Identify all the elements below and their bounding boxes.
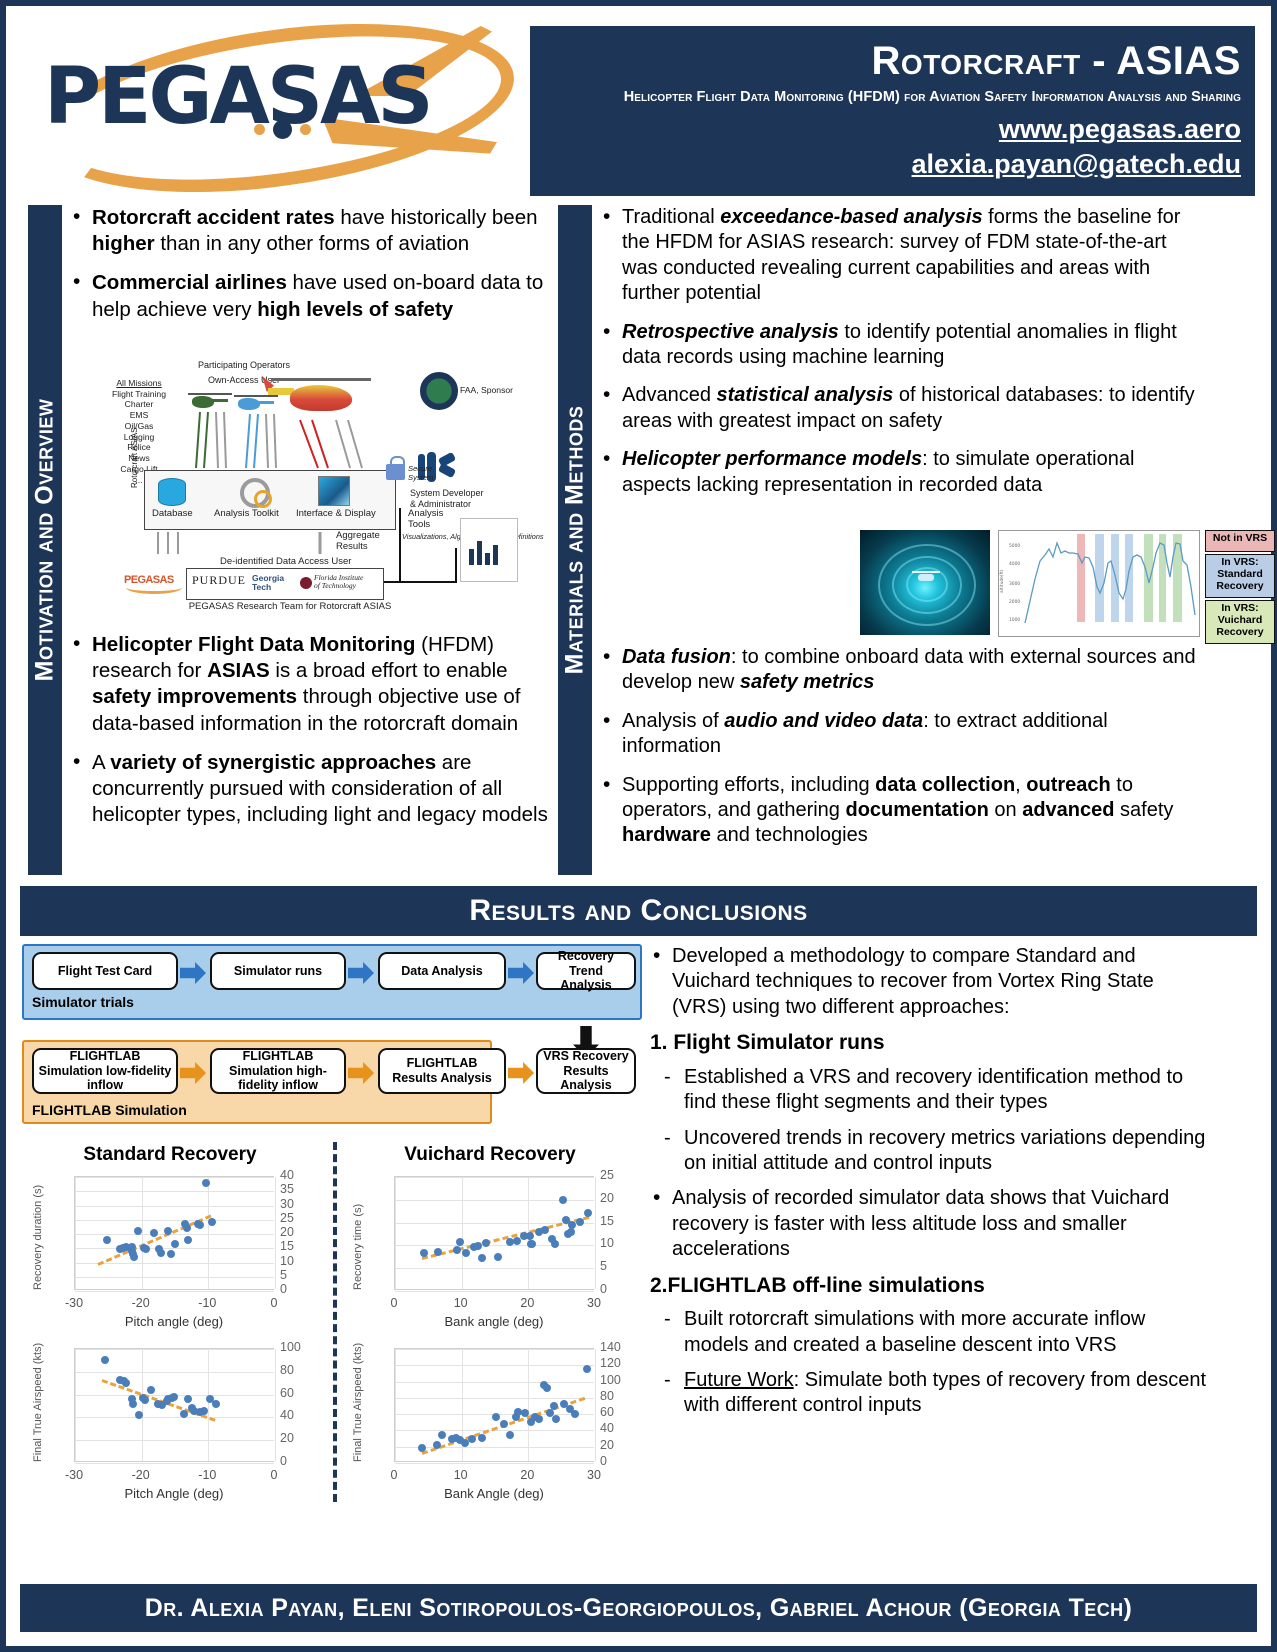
gridline-h [395, 1382, 594, 1383]
y-axis-label: Recovery duration (s) [32, 1185, 44, 1290]
data-point [551, 1240, 559, 1248]
list-item: Data fusion: to combine onboard data wit… [600, 645, 1200, 696]
gridline-v [75, 1349, 76, 1461]
x-axis-tick: -30 [54, 1296, 94, 1310]
gridline-v [208, 1177, 209, 1289]
list-item: Rotorcraft accident rates have historica… [70, 205, 548, 257]
flow-box-simulator-runs: Simulator runs [210, 952, 346, 990]
gridline-h [75, 1291, 274, 1292]
diagram-secure-label: SecureSystem [408, 464, 433, 482]
diagram-database-label: Database [152, 508, 193, 519]
flow-box-flightlab-low: FLIGHTLAB Simulation low-fidelity inflow [32, 1048, 178, 1094]
diagram-participating-operators: Participating Operators [198, 360, 290, 370]
gear-small-icon [254, 490, 272, 508]
x-axis-label: Pitch angle (deg) [74, 1314, 274, 1329]
data-point [506, 1431, 514, 1439]
y-axis-tick: 30 [280, 1197, 294, 1211]
x-axis-tick: -20 [121, 1296, 161, 1310]
data-point [568, 1221, 576, 1229]
legend-item-vuichard-recovery: In VRS:VuichardRecovery [1205, 600, 1275, 644]
results-text-column: Developed a methodology to compare Stand… [650, 944, 1210, 1429]
data-point [167, 1250, 175, 1258]
flightlab-simulation-label: FLIGHTLAB Simulation [32, 1102, 187, 1118]
chart-standard-recovery-duration: 0510152025303540-30-20-100Recovery durat… [20, 1170, 320, 1330]
data-point [130, 1253, 138, 1261]
data-point [494, 1253, 502, 1261]
data-point [171, 1240, 179, 1248]
x-axis-label: Bank angle (deg) [394, 1314, 594, 1329]
data-point [150, 1229, 158, 1237]
gridline-h [395, 1291, 594, 1292]
x-axis-tick: -30 [54, 1468, 94, 1482]
chart-title-vuichard: Vuichard Recovery [340, 1144, 640, 1166]
y-axis-tick: 100 [600, 1373, 621, 1387]
list-item: Supporting efforts, including data colle… [600, 773, 1200, 849]
data-point [559, 1196, 567, 1204]
y-axis-tick: 40 [280, 1168, 294, 1182]
y-axis-tick: 40 [280, 1408, 294, 1422]
results-item-2-1: Built rotorcraft simulations with more a… [650, 1307, 1210, 1358]
gridline-h [395, 1177, 594, 1178]
svg-text:1000: 1000 [1009, 617, 1020, 623]
data-point [528, 1240, 536, 1248]
svg-text:altitude(ft): altitude(ft) [999, 569, 1005, 593]
data-point [164, 1227, 172, 1235]
diagram-missions-title: All Missions [116, 378, 161, 388]
y-axis-tick: 20 [280, 1225, 294, 1239]
data-point [482, 1239, 490, 1247]
y-axis-tick: 80 [280, 1363, 294, 1377]
plot-area [394, 1176, 594, 1290]
flow-box-flight-test-card: Flight Test Card [32, 952, 178, 990]
results-bullet-simulator: Analysis of recorded simulator data show… [650, 1186, 1210, 1262]
gridline-h [75, 1206, 274, 1207]
gridline-h [75, 1220, 274, 1221]
svg-text:5000: 5000 [1009, 543, 1020, 549]
y-axis-tick: 140 [600, 1340, 621, 1354]
data-point [212, 1400, 220, 1408]
x-axis-tick: 0 [254, 1468, 294, 1482]
x-axis-tick: 0 [374, 1296, 414, 1310]
email-link[interactable]: alexia.payan@gatech.edu [540, 149, 1241, 180]
gridline-v [142, 1177, 143, 1289]
svg-text:2000: 2000 [1009, 599, 1020, 605]
x-axis-tick: 20 [507, 1468, 547, 1482]
flow-arrow-6-icon [508, 1062, 534, 1084]
gridline-v [528, 1349, 529, 1461]
poster-root: PEGASAS Rotorcraft - ASIAS Helicopter Fl… [0, 0, 1277, 1652]
x-axis-label: Pitch Angle (deg) [74, 1486, 274, 1501]
section-band-materials: Materials and Methods [558, 205, 592, 875]
fit-logo: Florida Instituteof Technology [314, 574, 363, 591]
y-axis-tick: 5 [600, 1259, 607, 1273]
poster-header: PEGASAS Rotorcraft - ASIAS Helicopter Fl… [12, 12, 1265, 194]
data-point [462, 1249, 470, 1257]
list-item: Helicopter performance models: to simula… [600, 447, 1200, 498]
results-future-work: Future Work: Simulate both types of reco… [650, 1368, 1210, 1419]
data-point [584, 1209, 592, 1217]
fit-seal-icon [300, 577, 312, 589]
y-axis-tick: 5 [280, 1268, 287, 1282]
gridline-h [395, 1398, 594, 1399]
pegasas-logo: PEGASAS [22, 14, 512, 194]
data-point [141, 1396, 149, 1404]
data-point [142, 1245, 150, 1253]
flow-box-data-analysis: Data Analysis [378, 952, 506, 990]
results-charts: Standard Recovery Vuichard Recovery 0510… [20, 1144, 640, 1504]
lock-icon [386, 464, 405, 480]
data-point [478, 1254, 486, 1262]
gridline-v [395, 1349, 396, 1461]
y-axis-label: Final True Airspeed (kts) [32, 1343, 44, 1462]
gridline-v [595, 1177, 596, 1289]
faa-seal-icon [420, 372, 458, 410]
svg-text:3000: 3000 [1009, 581, 1020, 587]
legend-item-standard-recovery: In VRS:StandardRecovery [1205, 554, 1275, 598]
data-point [170, 1393, 178, 1401]
y-axis-tick: 25 [600, 1168, 614, 1182]
data-point [492, 1413, 500, 1421]
y-axis-tick: 10 [280, 1254, 294, 1268]
y-axis-tick: 20 [600, 1438, 614, 1452]
y-axis-tick: 20 [600, 1191, 614, 1205]
y-axis-tick: 25 [280, 1211, 294, 1225]
gridline-h [395, 1245, 594, 1246]
page-subtitle: Helicopter Flight Data Monitoring (HFDM)… [540, 89, 1241, 105]
list-item: Helicopter Flight Data Monitoring (HFDM)… [70, 632, 548, 737]
list-item: Advanced statistical analysis of histori… [600, 383, 1200, 434]
diagram-aggregate-label: AggregateResults [336, 530, 380, 553]
results-section-1: 1. Flight Simulator runs [650, 1030, 1210, 1057]
data-point [583, 1365, 591, 1373]
gridline-v [75, 1177, 76, 1289]
x-axis-tick: 0 [254, 1296, 294, 1310]
list-item: Retrospective analysis to identify poten… [600, 320, 1200, 371]
chart-vuichard-recovery-time: 05101520250102030Recovery time (s)Bank a… [340, 1170, 640, 1330]
gridline-h [75, 1463, 274, 1464]
data-point [184, 1395, 192, 1403]
plot-area [74, 1348, 274, 1462]
gridline-h [75, 1277, 274, 1278]
diagram-analysis-tools-label: AnalysisTools [408, 508, 443, 531]
data-point [103, 1236, 111, 1244]
section-band-motivation-label: Motivation and Overview [31, 399, 60, 682]
gridline-h [395, 1430, 594, 1431]
data-point [576, 1218, 584, 1226]
vrs-figure-row: 50004000 30002000 1000 altitude(ft) Not … [860, 530, 1198, 638]
x-axis-tick: -20 [121, 1468, 161, 1482]
results-intro: Developed a methodology to compare Stand… [650, 944, 1210, 1020]
display-icon [318, 476, 350, 506]
flow-box-flightlab-results: FLIGHTLAB Results Analysis [378, 1048, 506, 1094]
diagram-interface-label: Interface & Display [296, 508, 376, 519]
gridline-h [75, 1234, 274, 1235]
data-point [541, 1226, 549, 1234]
diagram-deidentified-label: De-identified Data Access User [220, 556, 351, 567]
y-axis-tick: 100 [280, 1340, 301, 1354]
pegasas-mini-logo: PEGASAS [124, 574, 182, 592]
simulator-trials-label: Simulator trials [32, 994, 134, 1010]
data-point [535, 1415, 543, 1423]
georgia-tech-logo: GeorgiaTech [252, 574, 284, 592]
y-axis-tick: 80 [600, 1389, 614, 1403]
gridline-h [75, 1440, 274, 1441]
page-title: Rotorcraft - ASIAS [540, 40, 1241, 82]
results-item-1-2: Uncovered trends in recovery metrics var… [650, 1126, 1210, 1177]
y-axis-tick: 35 [280, 1182, 294, 1196]
x-axis-label: Bank Angle (deg) [394, 1486, 594, 1501]
data-point [500, 1420, 508, 1428]
data-point [101, 1356, 109, 1364]
y-axis-tick: 0 [280, 1282, 287, 1296]
gridline-h [75, 1349, 274, 1350]
data-point [438, 1431, 446, 1439]
materials-column: Traditional exceedance-based analysis fo… [600, 205, 1200, 877]
y-axis-tick: 0 [600, 1282, 607, 1296]
legend-item-not-in-vrs: Not in VRS [1205, 530, 1275, 552]
data-point [418, 1444, 426, 1452]
y-axis-label: Final True Airspeed (kts) [352, 1343, 364, 1462]
logo-wordmark: PEGASAS [44, 52, 431, 142]
data-point [521, 1409, 529, 1417]
helicopter-main-icon [268, 374, 373, 418]
data-point [202, 1179, 210, 1187]
data-point [543, 1384, 551, 1392]
gridline-h [395, 1349, 594, 1350]
y-axis-tick: 60 [600, 1405, 614, 1419]
gridline-h [75, 1248, 274, 1249]
gridline-h [75, 1191, 274, 1192]
gridline-h [395, 1463, 594, 1464]
data-point [157, 1249, 165, 1257]
title-block: Rotorcraft - ASIAS Helicopter Flight Dat… [530, 26, 1255, 196]
data-point [122, 1379, 130, 1387]
gridline-v [275, 1349, 276, 1461]
y-axis-label: Recovery time (s) [352, 1204, 364, 1290]
helicopter-green-icon [188, 388, 234, 410]
svg-text:4000: 4000 [1009, 561, 1020, 567]
materials-bullet-list-2: Data fusion: to combine onboard data wit… [600, 645, 1200, 862]
data-point [550, 1402, 558, 1410]
y-axis-tick: 20 [280, 1431, 294, 1445]
gridline-h [75, 1372, 274, 1373]
y-axis-tick: 15 [600, 1214, 614, 1228]
x-axis-tick: 20 [507, 1296, 547, 1310]
chart-vuichard-final-airspeed: 0204060801001201400102030Final True Airs… [340, 1342, 640, 1502]
vrs-altitude-chart: 50004000 30002000 1000 altitude(ft) [998, 530, 1200, 637]
motivation-bullet-list: Rotorcraft accident rates have historica… [70, 205, 548, 323]
asias-concept-diagram: All Missions Flight TrainingCharterEMSOi… [100, 360, 530, 625]
data-point [200, 1407, 208, 1415]
data-point [571, 1410, 579, 1418]
x-axis-tick: -10 [187, 1468, 227, 1482]
gridline-h [395, 1268, 594, 1269]
website-link[interactable]: www.pegasas.aero [540, 114, 1241, 145]
y-axis-tick: 0 [600, 1454, 607, 1468]
section-band-motivation: Motivation and Overview [28, 205, 62, 875]
data-point [453, 1246, 461, 1254]
x-axis-tick: -10 [187, 1296, 227, 1310]
gridline-v [142, 1349, 143, 1461]
data-point [184, 1236, 192, 1244]
section-band-materials-label: Materials and Methods [561, 406, 590, 675]
vortex-ring-state-photo [860, 530, 990, 635]
x-axis-tick: 10 [441, 1468, 481, 1482]
data-point [129, 1400, 137, 1408]
x-axis-tick: 10 [441, 1296, 481, 1310]
gridline-v [395, 1177, 396, 1289]
data-point [552, 1415, 560, 1423]
diagram-faa-label: FAA, Sponsor [460, 385, 513, 395]
y-axis-tick: 40 [600, 1421, 614, 1435]
y-axis-tick: 60 [280, 1386, 294, 1400]
diagram-caption: PEGASAS Research Team for Rotorcraft ASI… [170, 601, 410, 612]
future-work-label: Future Work [684, 1369, 794, 1391]
database-icon [158, 478, 186, 506]
chart-title-standard: Standard Recovery [20, 1144, 320, 1166]
logo-dots [254, 116, 319, 140]
data-point [420, 1249, 428, 1257]
methodology-flowchart: Simulator trials Flight Test Card Simula… [22, 944, 642, 1144]
gridline-v [208, 1349, 209, 1461]
gridline-h [395, 1365, 594, 1366]
data-point [196, 1221, 204, 1229]
chart-standard-final-airspeed: 020406080100-30-20-100Final True Airspee… [20, 1342, 320, 1502]
flow-box-recovery-trend: Recovery Trend Analysis [536, 952, 636, 990]
data-point [208, 1218, 216, 1226]
poster-footer: Dr. Alexia Payan, Eleni Sotiropoulos-Geo… [20, 1584, 1257, 1632]
flow-box-flightlab-high: FLIGHTLAB Simulation high-fidelity inflo… [210, 1048, 346, 1094]
data-point [147, 1386, 155, 1394]
x-axis-tick: 0 [374, 1468, 414, 1482]
y-axis-tick: 10 [600, 1236, 614, 1250]
vrs-chart-svg: 50004000 30002000 1000 altitude(ft) [999, 531, 1199, 636]
data-point [468, 1435, 476, 1443]
data-point [478, 1434, 486, 1442]
list-item: Commercial airlines have used on-board d… [70, 270, 548, 322]
y-axis-tick: 0 [280, 1454, 287, 1468]
flow-box-vrs-recovery: VRS Recovery Results Analysis [536, 1048, 636, 1094]
diagram-rotorcraft-asias-label: Rotorcraft ASIAS [130, 428, 139, 488]
plot-area [74, 1176, 274, 1290]
purdue-logo: PURDUE [192, 573, 246, 588]
y-axis-tick: 15 [280, 1239, 294, 1253]
gridline-h [75, 1417, 274, 1418]
data-point [526, 1232, 534, 1240]
list-item: A variety of synergistic approaches are … [70, 750, 548, 829]
x-axis-tick: 30 [574, 1296, 614, 1310]
results-section-2: 2.FLIGHTLAB off-line simulations [650, 1273, 1210, 1300]
gridline-v [595, 1349, 596, 1461]
gridline-h [75, 1177, 274, 1178]
results-item-1-1: Established a VRS and recovery identific… [650, 1065, 1210, 1116]
list-item: Traditional exceedance-based analysis fo… [600, 205, 1200, 307]
plot-area [394, 1348, 594, 1462]
materials-bullet-list: Traditional exceedance-based analysis fo… [600, 205, 1200, 498]
data-point [474, 1242, 482, 1250]
diagram-toolkit-label: Analysis Toolkit [214, 508, 279, 519]
y-axis-tick: 120 [600, 1356, 621, 1370]
motivation-bullet-list-2: Helicopter Flight Data Monitoring (HFDM)… [70, 632, 548, 842]
x-axis-tick: 30 [574, 1468, 614, 1482]
results-section-banner: Results and Conclusions [20, 886, 1257, 936]
gridline-v [462, 1177, 463, 1289]
list-item: Analysis of audio and video data: to ext… [600, 709, 1200, 760]
gridline-v [275, 1177, 276, 1289]
data-point [183, 1224, 191, 1232]
